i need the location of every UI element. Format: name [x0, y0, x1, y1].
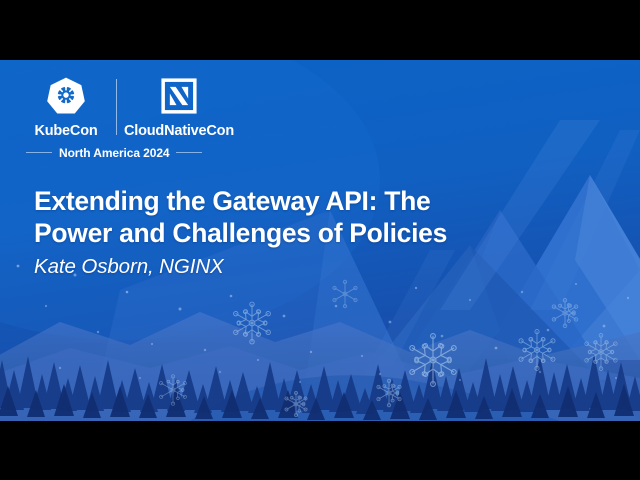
kubecon-logo: KubeCon	[22, 74, 110, 139]
edition-label: North America 2024	[59, 146, 169, 160]
letterbox-bottom	[0, 421, 640, 480]
logo-divider	[116, 79, 117, 135]
talk-title: Extending the Gateway API: The Power and…	[34, 185, 554, 249]
title-block: Extending the Gateway API: The Power and…	[34, 185, 554, 280]
letterbox-top	[0, 0, 640, 60]
event-logo-lockup: KubeCon CloudNativeCon	[22, 74, 235, 160]
kubecon-wordmark: KubeCon	[34, 124, 97, 139]
cloudnativecon-logo: CloudNativeCon	[123, 74, 235, 139]
talk-speaker: Kate Osborn, NGINX	[34, 255, 554, 280]
talk-title-line-2: Power and Challenges of Policies	[34, 218, 447, 248]
video-frame: KubeCon CloudNativeCon	[0, 0, 640, 480]
talk-title-line-1: Extending the Gateway API: The	[34, 186, 430, 216]
kubernetes-helm-icon	[45, 74, 87, 118]
edition-rule-right	[176, 152, 202, 153]
logo-row: KubeCon CloudNativeCon	[22, 74, 235, 139]
edition-rule-left	[26, 152, 52, 153]
cncf-square-icon	[159, 74, 199, 118]
slide-content: KubeCon CloudNativeCon	[0, 60, 640, 421]
event-edition: North America 2024	[22, 146, 235, 160]
cloudnativecon-wordmark: CloudNativeCon	[124, 124, 234, 139]
